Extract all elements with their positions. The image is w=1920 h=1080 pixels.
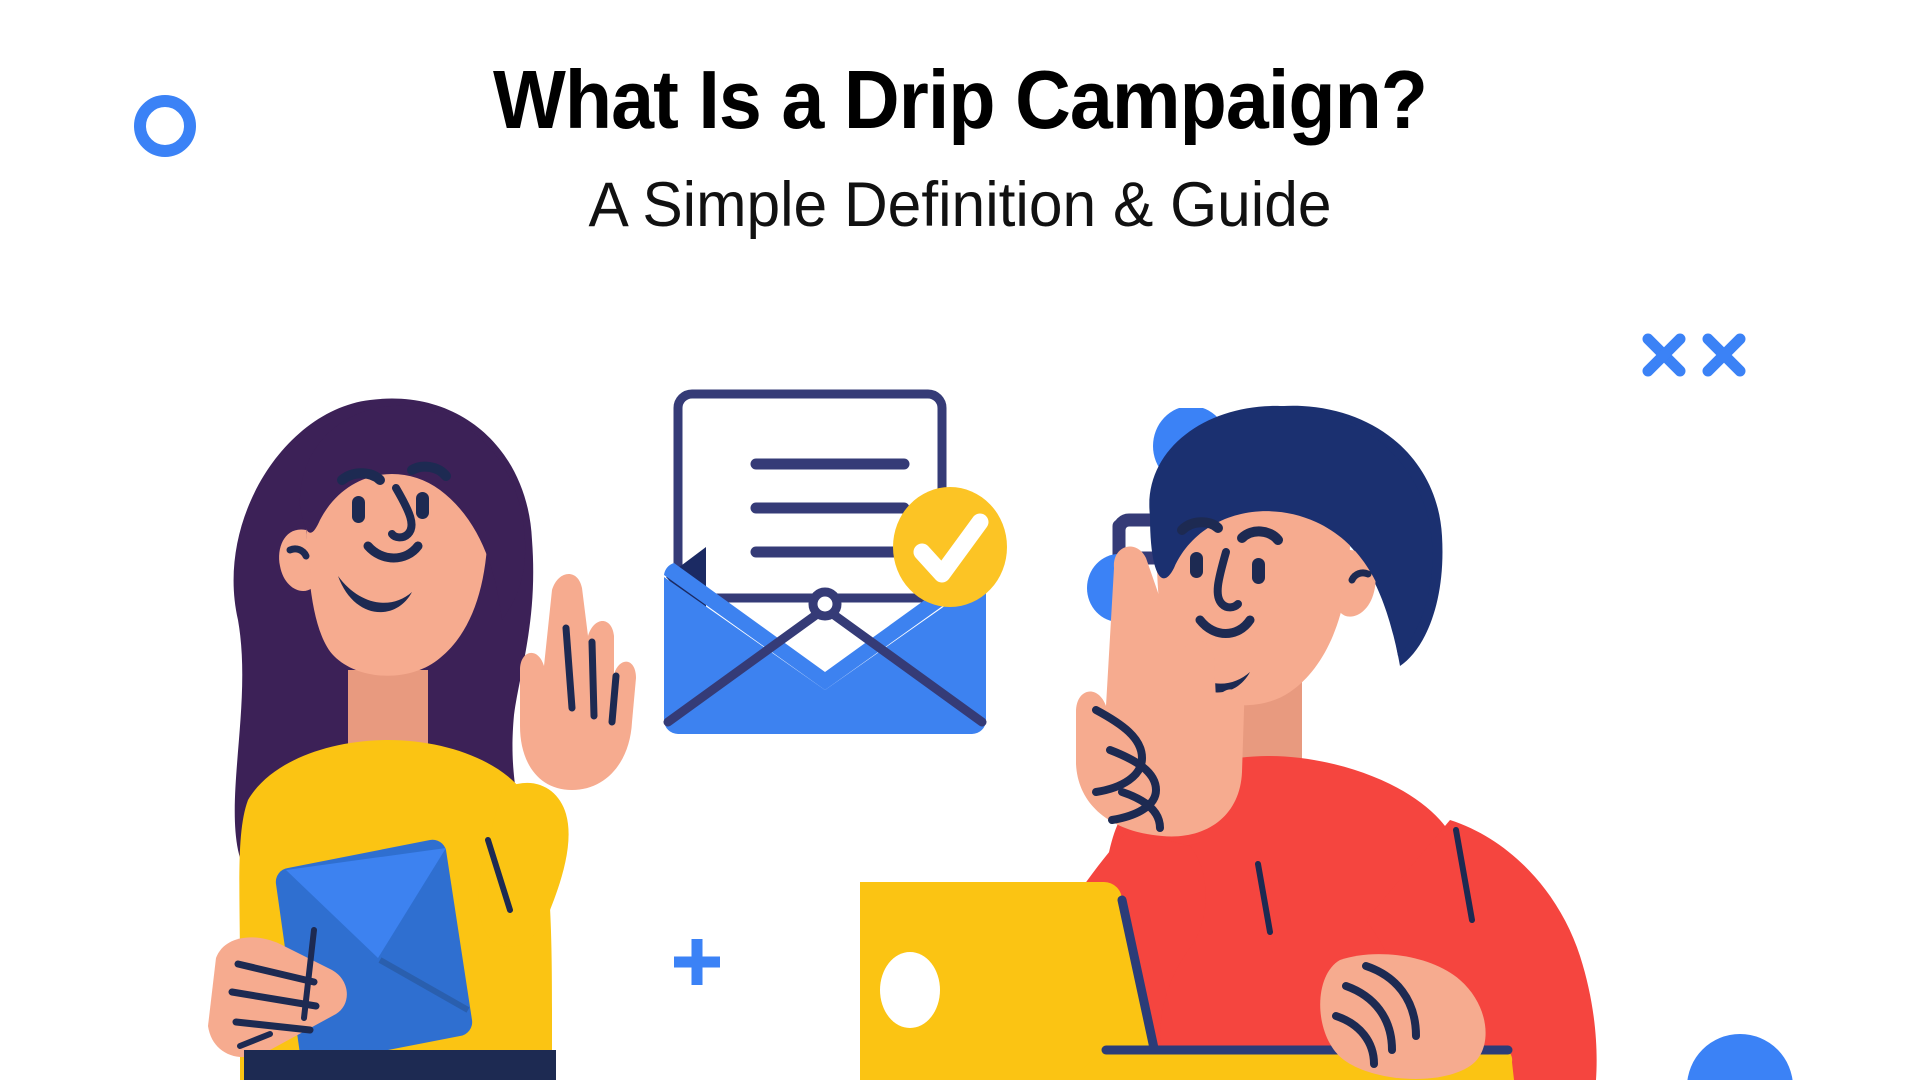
laptop-logo — [880, 952, 940, 1028]
woman-waving-hand — [520, 574, 636, 790]
envelope-fold-notch — [813, 592, 837, 616]
hero-banner: What Is a Drip Campaign? A Simple Defini… — [0, 0, 1920, 1080]
heading-block: What Is a Drip Campaign? A Simple Defini… — [0, 58, 1920, 237]
ring-circle-icon — [134, 95, 196, 157]
page-subtitle: A Simple Definition & Guide — [38, 141, 1881, 237]
x-marks-icon — [1640, 325, 1750, 385]
page-title: What Is a Drip Campaign? — [67, 58, 1853, 141]
man-illustration — [860, 400, 1860, 1080]
woman-skirt — [244, 1050, 556, 1080]
plus-icon — [669, 934, 725, 990]
woman-illustration — [120, 370, 640, 1080]
